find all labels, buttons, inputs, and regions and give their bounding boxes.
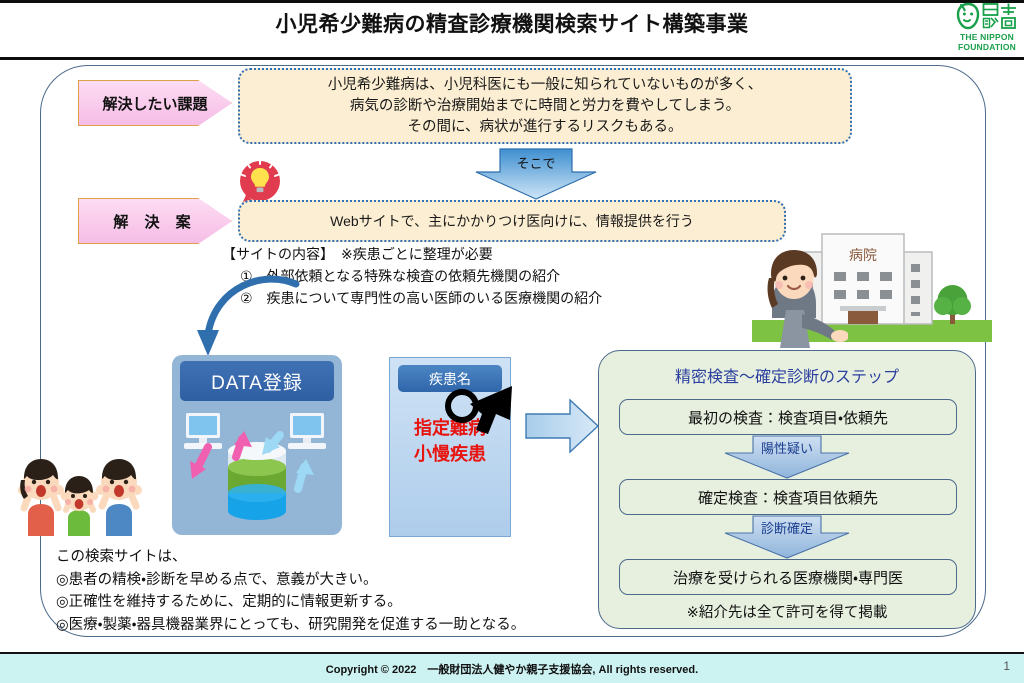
data-panel-title: DATA登録 [180,361,334,401]
footer-bar: Copyright © 2022 一般財団法人健やか親子支援協会, All ri… [0,652,1024,683]
tree-icon [934,285,971,324]
solution-text: Webサイトで、主にかかりつけ医向けに、情報提供を行う [330,211,694,231]
step-arrow-2-label: 診断確定 [717,518,857,537]
solution-statement-box: Webサイトで、主にかかりつけ医向けに、情報提供を行う [238,200,786,242]
copyright-text: Copyright © 2022 一般財団法人健やか親子支援協会, All ri… [0,661,1024,677]
step-arrow-2: 診断確定 [717,515,857,559]
step-box-3-text: 治療を受けられる医療機関・専門医 [673,567,903,588]
steps-note: ※紹介先は全て許可を得て掲載 [599,601,975,622]
database-computers-icon [172,405,342,535]
right-block-arrow-icon [524,398,600,454]
step-arrow-1-label: 陽性疑い [717,438,857,457]
summary-text-block: この検索サイトは、 ◎患者の精検・診断を早める点で、意義が大きい。 ◎正確性を維… [56,546,616,636]
problem-line-2: 病気の診断や治療開始までに時間と労力を費やしてしまう。 [350,96,740,117]
data-registration-panel: DATA登録 [172,355,342,535]
logo-kanji-icon [982,2,1018,30]
diagnosis-steps-panel: 精密検査～確定診断のステップ 最初の検査：検査項目・依頼先 陽性疑い 確定検査：… [598,350,976,629]
step-box-2: 確定検査：検査項目依頼先 [619,479,957,515]
summary-line-3: ◎正確性を維持するために、定期的に情報更新する。 [56,591,616,614]
logo-line-1: THE NIPPON [954,32,1020,42]
sokode-down-arrow: そこで [470,148,602,200]
page-title: 小児希少難病の精査診療機関検索サイト構築事業 [0,8,1024,38]
hospital-sign-text: 病院 [849,247,877,263]
header-bottom-rule [0,57,1024,60]
site-content-heading: 【サイトの内容】 ※疾患ごとに整理が必要 [222,243,742,265]
steps-title: 精密検査～確定診断のステップ [599,363,975,387]
step-box-1: 最初の検査：検査項目・依頼先 [619,399,957,435]
page-number: 1 [1003,659,1010,673]
foundation-face-icon [954,2,982,30]
lightbulb-idea-icon [232,155,288,205]
curved-down-arrow-icon [186,272,306,368]
summary-line-4: ◎医療・製薬・器具機器業界にとっても、研究開発を促進する一助となる。 [56,614,616,637]
woman-presenting-icon [756,248,848,348]
step-arrow-1: 陽性疑い [717,435,857,479]
summary-line-1: この検索サイトは、 [56,546,616,569]
problem-label-text: 解決したい課題 [102,93,207,114]
cheering-children-icon [18,448,156,536]
step-box-3: 治療を受けられる医療機関・専門医 [619,559,957,595]
problem-line-1: 小児希少難病は、小児科医にも一般に知られていないものが多く、 [328,75,763,96]
solution-label-text: 解 決 案 [113,211,196,232]
problem-line-3: その間に、病状が進行するリスクもある。 [407,117,682,138]
nippon-foundation-logo: THE NIPPON FOUNDATION [954,1,1020,57]
header-top-rule [0,0,1024,3]
sokode-label: そこで [470,153,602,172]
logo-line-2: FOUNDATION [954,42,1020,52]
step-box-1-text: 最初の検査：検査項目・依頼先 [688,407,888,428]
step-box-2-text: 確定検査：検査項目依頼先 [698,487,878,508]
pointing-hand-cursor-icon [440,380,526,452]
summary-line-2: ◎患者の精検・診断を早める点で、意義が大きい。 [56,569,616,592]
problem-statement-box: 小児希少難病は、小児科医にも一般に知られていないものが多く、 病気の診断や治療開… [238,68,852,144]
slide-canvas: 小児希少難病の精査診療機関検索サイト構築事業 THE NIPPON FOUNDA… [0,0,1024,681]
